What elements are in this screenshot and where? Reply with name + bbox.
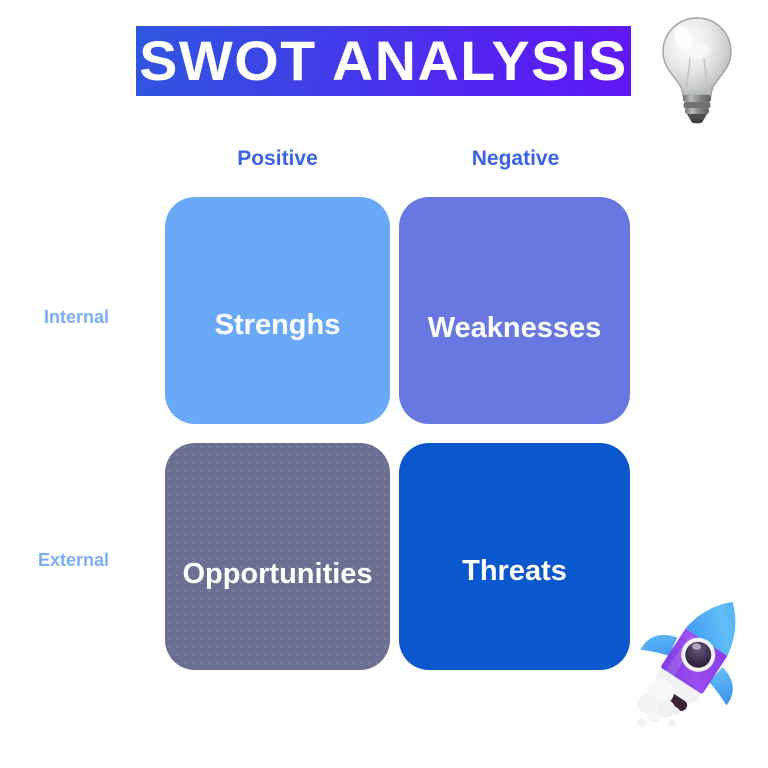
swot-diagram: SWOT ANALYSIS: [0, 0, 768, 768]
lightbulb-icon: [652, 10, 742, 125]
title-banner: SWOT ANALYSIS: [136, 26, 631, 96]
column-header-negative: Negative: [428, 146, 603, 171]
quadrant-label-opportunities: Opportunities: [182, 559, 372, 591]
page-title: SWOT ANALYSIS: [139, 33, 628, 89]
quadrant-label-threats: Threats: [462, 556, 567, 588]
column-header-positive: Positive: [190, 146, 365, 171]
quadrant-weaknesses[interactable]: Weaknesses: [399, 197, 630, 424]
quadrant-strengths[interactable]: Strenghs: [165, 197, 390, 424]
row-header-external: External: [38, 550, 168, 572]
row-header-internal: Internal: [44, 307, 164, 329]
quadrant-label-weaknesses: Weaknesses: [428, 313, 602, 345]
quadrant-threats[interactable]: Threats: [399, 443, 630, 670]
quadrant-label-strengths: Strenghs: [215, 310, 341, 342]
quadrant-opportunities[interactable]: Opportunities: [165, 443, 390, 670]
rocket-icon: [628, 582, 768, 732]
